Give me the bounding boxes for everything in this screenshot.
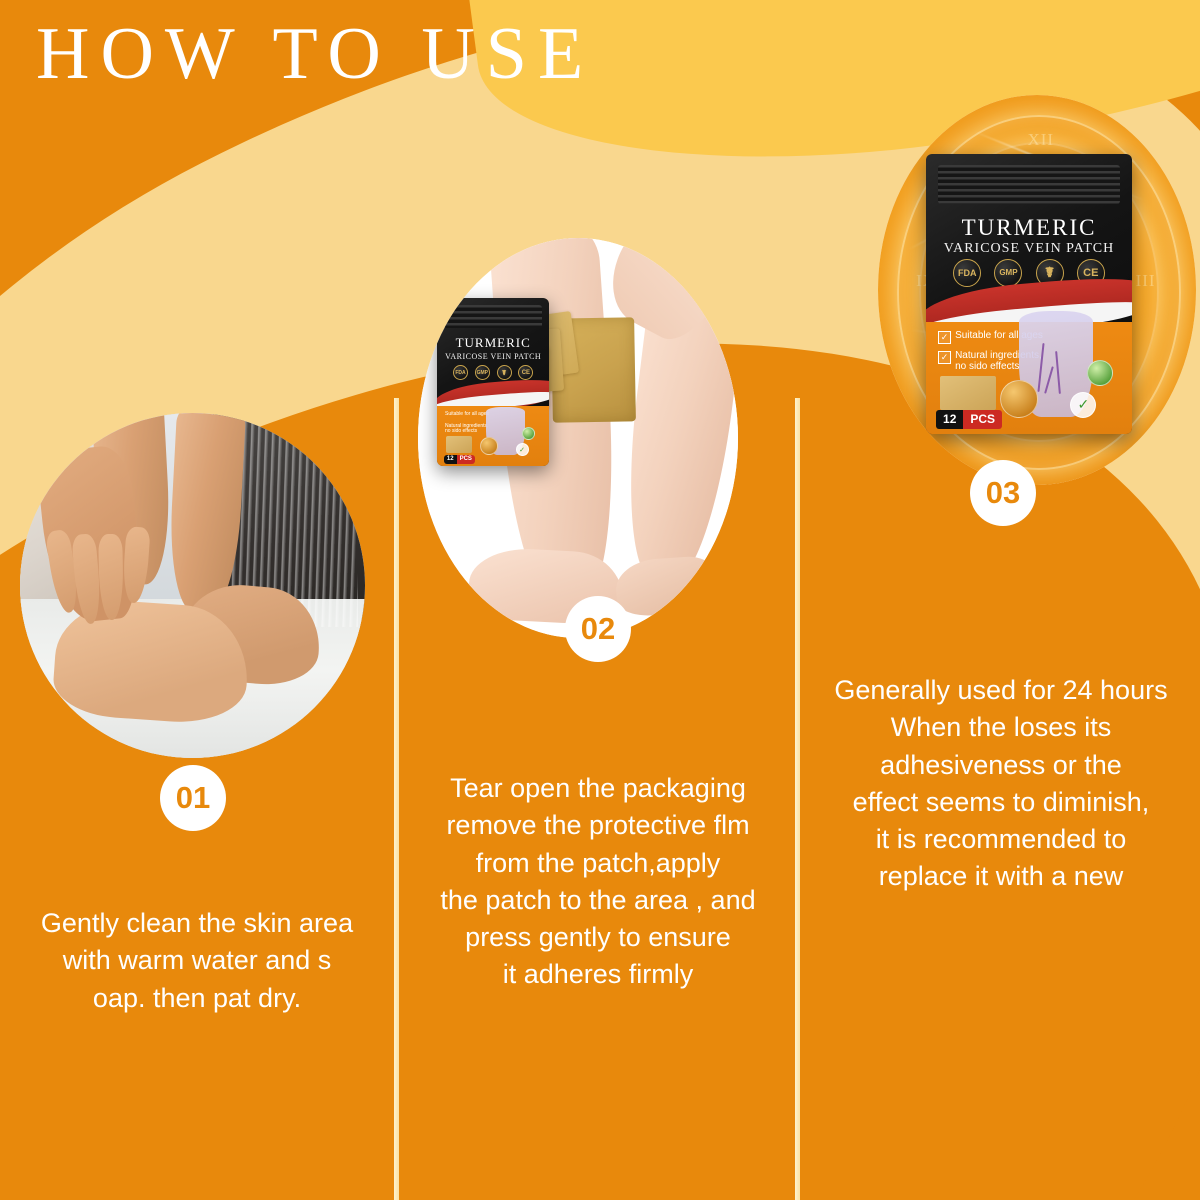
- how-to-use-infographic: HOW TO USE 01 Gently clean the skin area…: [0, 0, 1200, 1200]
- gmp-icon: GMP: [994, 259, 1022, 287]
- column-divider-2: [795, 398, 800, 1200]
- patch-stack-icon: [940, 376, 996, 410]
- step-1-description: Gently clean the skin area with warm wat…: [8, 905, 386, 1017]
- roman-numeral: XII: [1027, 130, 1054, 150]
- vein-line: [1056, 351, 1062, 394]
- feature-bullet: Suitable for all ages: [445, 412, 489, 417]
- package-count-badge: 12 PCS: [936, 410, 1002, 429]
- step-1-photo: [20, 413, 365, 758]
- step-2-number-badge: 02: [565, 596, 631, 662]
- legs-scene: TURMERIC VARICOSE VEIN PATCH FDA GMP ☤ C…: [418, 238, 738, 638]
- leaf-icon: [1087, 360, 1113, 386]
- fda-icon: FDA: [953, 259, 981, 287]
- vein-line: [1037, 343, 1044, 392]
- certification-badges: FDA GMP ☤ CE: [437, 365, 549, 380]
- product-package-large: TURMERIC VARICOSE VEIN PATCH FDA GMP ☤ C…: [926, 154, 1133, 435]
- fda-icon: FDA: [453, 365, 468, 380]
- package-subtitle: VARICOSE VEIN PATCH: [926, 241, 1133, 257]
- patch-stack-icon: [446, 436, 472, 453]
- turmeric-root-icon: [480, 437, 498, 455]
- ce-icon: CE: [518, 365, 533, 380]
- package-subtitle: VARICOSE VEIN PATCH: [437, 352, 549, 361]
- package-brand: TURMERIC: [926, 215, 1133, 241]
- package-count-badge: 12 PCS: [444, 455, 475, 464]
- vein-line: [1045, 366, 1055, 393]
- step-1-number-badge: 01: [160, 765, 226, 831]
- count-number: 12: [936, 410, 963, 429]
- roman-numeral: III: [1136, 271, 1156, 291]
- count-unit: PCS: [457, 455, 475, 464]
- shower-scene: [20, 413, 365, 758]
- package-zip-seal: [444, 305, 543, 329]
- foot-back: [615, 554, 727, 617]
- check-icon: ✓: [1070, 392, 1096, 418]
- count-number: 12: [444, 455, 457, 464]
- product-package-small: TURMERIC VARICOSE VEIN PATCH FDA GMP ☤ C…: [437, 298, 549, 466]
- step-2-description: Tear open the packaging remove the prote…: [404, 770, 792, 994]
- page-title: HOW TO USE: [36, 16, 594, 94]
- step-3-description: Generally used for 24 hours When the los…: [805, 672, 1197, 896]
- package-orange-panel: ✓ Suitable for all ages ✓ Natural ingred…: [926, 322, 1133, 434]
- gmp-icon: GMP: [475, 365, 490, 380]
- checkbox-icon: ✓: [938, 331, 951, 344]
- step-2-photo: TURMERIC VARICOSE VEIN PATCH FDA GMP ☤ C…: [418, 238, 738, 638]
- feature-bullet: Natural ingredients, no sido effects: [445, 424, 488, 435]
- step-3-photo: XII III VI IX TURMERIC VARICOSE VEIN PAT…: [878, 95, 1196, 485]
- step-3-number-badge: 03: [970, 460, 1036, 526]
- check-icon: ✓: [516, 443, 529, 456]
- column-divider-1: [394, 398, 399, 1200]
- leaf-icon: [522, 427, 535, 440]
- checkbox-icon: ✓: [938, 351, 951, 364]
- clock-glow-scene: XII III VI IX TURMERIC VARICOSE VEIN PAT…: [878, 95, 1196, 485]
- count-unit: PCS: [963, 410, 1002, 429]
- package-zip-seal: [938, 165, 1120, 204]
- caduceus-icon: ☤: [497, 365, 512, 380]
- package-brand: TURMERIC: [437, 335, 549, 351]
- package-orange-panel: Suitable for all ages Natural ingredient…: [437, 406, 549, 466]
